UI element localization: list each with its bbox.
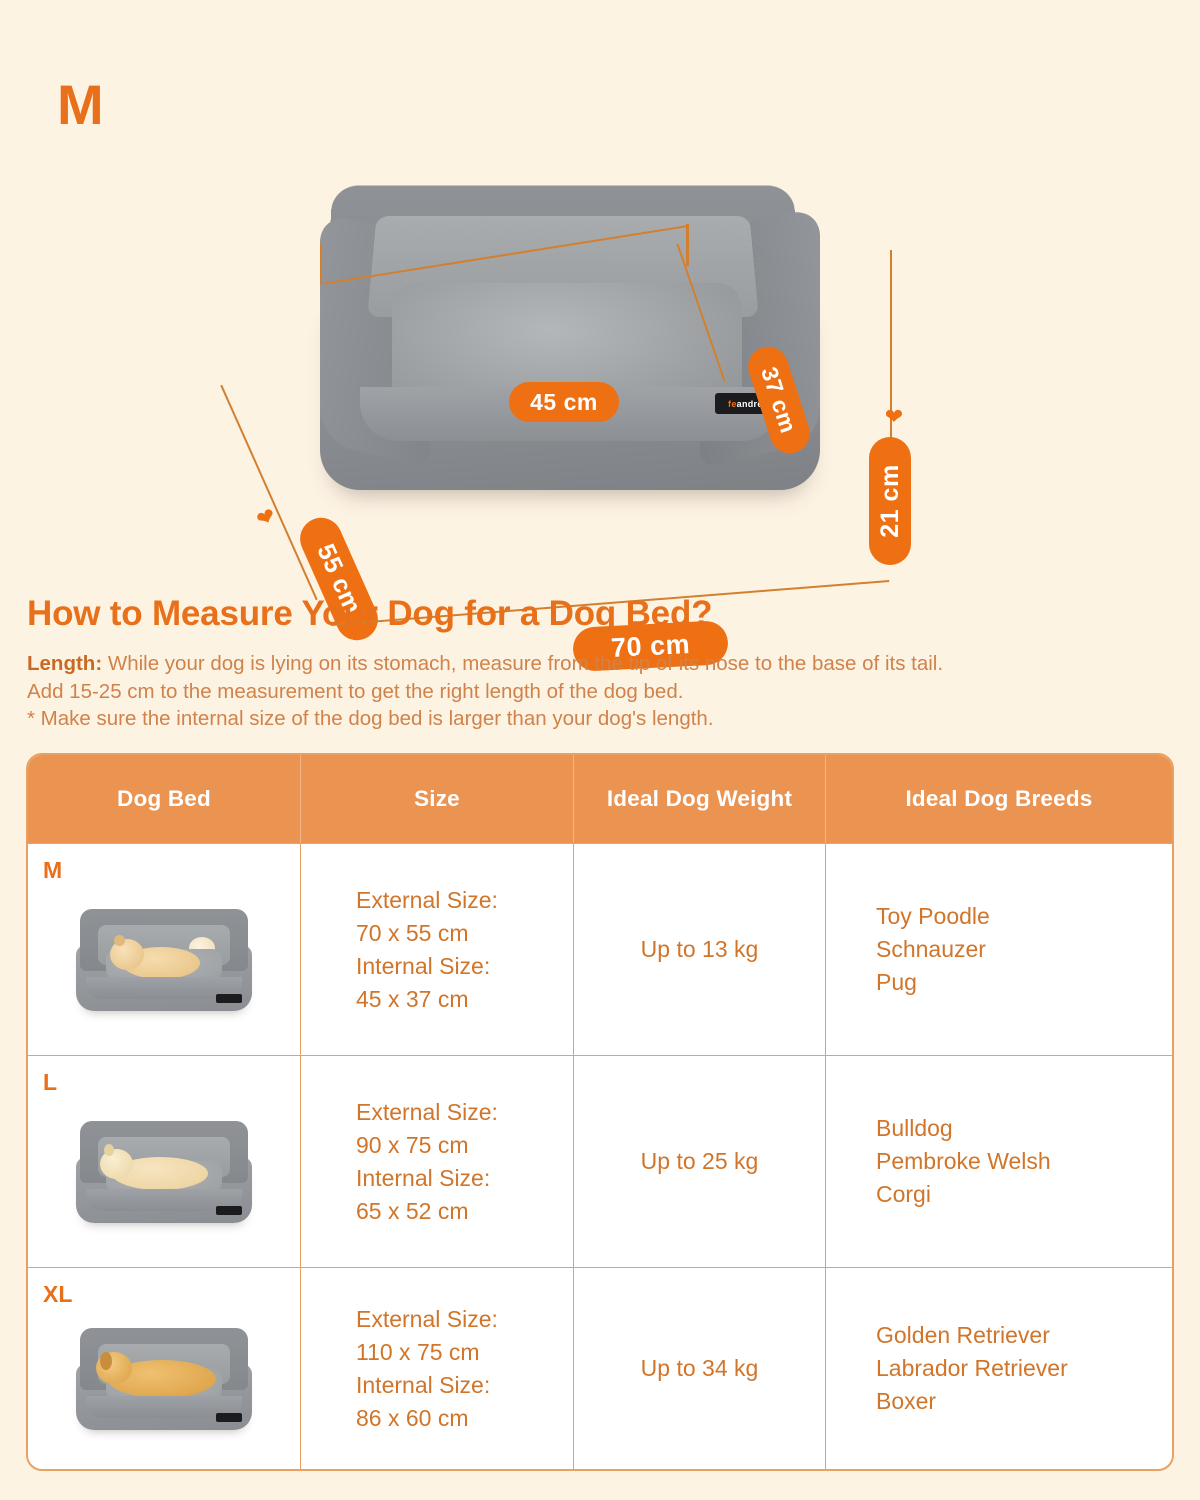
row-xl-internal-value: 86 x 60 cm <box>356 1402 498 1435</box>
thumb-brand-logo <box>216 1206 242 1215</box>
golden-retriever-ear <box>100 1352 112 1370</box>
row-l-external-label: External Size: <box>356 1096 498 1129</box>
size-spec-table: Dog Bed Size Ideal Dog Weight Ideal Dog … <box>26 753 1174 1471</box>
row-l-weight-cell: Up to 25 kg <box>574 1056 826 1267</box>
row-l-bed-thumbnail <box>64 1111 264 1231</box>
table-row: L External Size: 90 x 75 cm In <box>28 1055 1172 1267</box>
row-xl-external-value: 110 x 75 cm <box>356 1336 498 1369</box>
row-xl-breed-3: Boxer <box>876 1385 1068 1418</box>
row-m-bed-thumbnail <box>64 899 264 1019</box>
instructions-line-2: Add 15-25 cm to the measurement to get t… <box>27 678 1177 706</box>
size-badge: M <box>57 77 104 133</box>
row-l-breed-1: Bulldog <box>876 1112 1051 1145</box>
table-header-size: Size <box>301 755 574 843</box>
table-header-row: Dog Bed Size Ideal Dog Weight Ideal Dog … <box>28 755 1172 843</box>
product-size-guide-page: M feandrea 45 cm 37 cm ❤ 55 cm 70 cm <box>0 0 1200 1500</box>
row-m-size-cell: External Size: 70 x 55 cm Internal Size:… <box>301 844 574 1055</box>
row-m-bed-cell: M <box>28 844 301 1055</box>
row-xl-breed-2: Labrador Retriever <box>876 1352 1068 1385</box>
row-l-size-label: L <box>43 1066 57 1099</box>
instructions-line-1: Length: While your dog is lying on its s… <box>27 650 1177 678</box>
internal-width-tick <box>686 224 689 266</box>
internal-length-tick-left <box>320 244 322 284</box>
row-l-breed-2: Pembroke Welsh <box>876 1145 1051 1178</box>
instructions-line-3: * Make sure the internal size of the dog… <box>27 705 1177 733</box>
row-l-internal-label: Internal Size: <box>356 1162 498 1195</box>
row-xl-size-cell: External Size: 110 x 75 cm Internal Size… <box>301 1268 574 1469</box>
row-l-external-value: 90 x 75 cm <box>356 1129 498 1162</box>
row-xl-size-label: XL <box>43 1278 72 1311</box>
table-header-dog-bed: Dog Bed <box>28 755 301 843</box>
instructions-line-1-text: While your dog is lying on its stomach, … <box>102 652 943 675</box>
row-m-size-label: M <box>43 854 62 887</box>
table-header-breeds: Ideal Dog Breeds <box>826 755 1172 843</box>
heart-marker-icon-height: ❤ <box>884 407 904 426</box>
table-row: XL External Size: 110 x 75 cm <box>28 1267 1172 1469</box>
row-l-breeds-cell: Bulldog Pembroke Welsh Corgi <box>826 1056 1172 1267</box>
row-m-weight-cell: Up to 13 kg <box>574 844 826 1055</box>
row-xl-internal-label: Internal Size: <box>356 1369 498 1402</box>
row-xl-bed-cell: XL <box>28 1268 301 1469</box>
dog-bed-illustration: feandrea <box>300 165 840 525</box>
row-m-breed-2: Schnauzer <box>876 933 990 966</box>
row-xl-breeds-cell: Golden Retriever Labrador Retriever Boxe… <box>826 1268 1172 1469</box>
row-m-external-label: External Size: <box>356 884 498 917</box>
measurement-instructions: Length: While your dog is lying on its s… <box>27 650 1177 733</box>
row-l-breed-3: Corgi <box>876 1178 1051 1211</box>
row-l-bed-cell: L <box>28 1056 301 1267</box>
corgi-ear <box>104 1144 114 1156</box>
brand-logo-part-a: fe <box>728 399 737 409</box>
row-xl-breed-1: Golden Retriever <box>876 1319 1068 1352</box>
row-m-external-value: 70 x 55 cm <box>356 917 498 950</box>
thumb-brand-logo <box>216 1413 242 1422</box>
internal-length-label: 45 cm <box>509 382 619 422</box>
row-m-breed-3: Pug <box>876 966 990 999</box>
row-m-internal-label: Internal Size: <box>356 950 498 983</box>
row-l-internal-value: 65 x 52 cm <box>356 1195 498 1228</box>
row-xl-external-label: External Size: <box>356 1303 498 1336</box>
thumb-brand-logo <box>216 994 242 1003</box>
row-xl-weight-cell: Up to 34 kg <box>574 1268 826 1469</box>
table-header-weight: Ideal Dog Weight <box>574 755 826 843</box>
table-row: M External Size: 70 x 55 cm <box>28 843 1172 1055</box>
row-xl-bed-thumbnail <box>64 1318 264 1438</box>
height-label: 21 cm <box>869 437 911 565</box>
row-m-internal-value: 45 x 37 cm <box>356 983 498 1016</box>
row-l-size-cell: External Size: 90 x 75 cm Internal Size:… <box>301 1056 574 1267</box>
pomeranian-ear <box>114 935 125 946</box>
length-label: Length: <box>27 652 102 675</box>
section-title: How to Measure Your Dog for a Dog Bed? <box>27 594 712 634</box>
row-m-breeds-cell: Toy Poodle Schnauzer Pug <box>826 844 1172 1055</box>
row-m-breed-1: Toy Poodle <box>876 900 990 933</box>
hero-product-diagram: feandrea 45 cm 37 cm ❤ 55 cm 70 cm ❤ 21 … <box>0 150 1200 580</box>
